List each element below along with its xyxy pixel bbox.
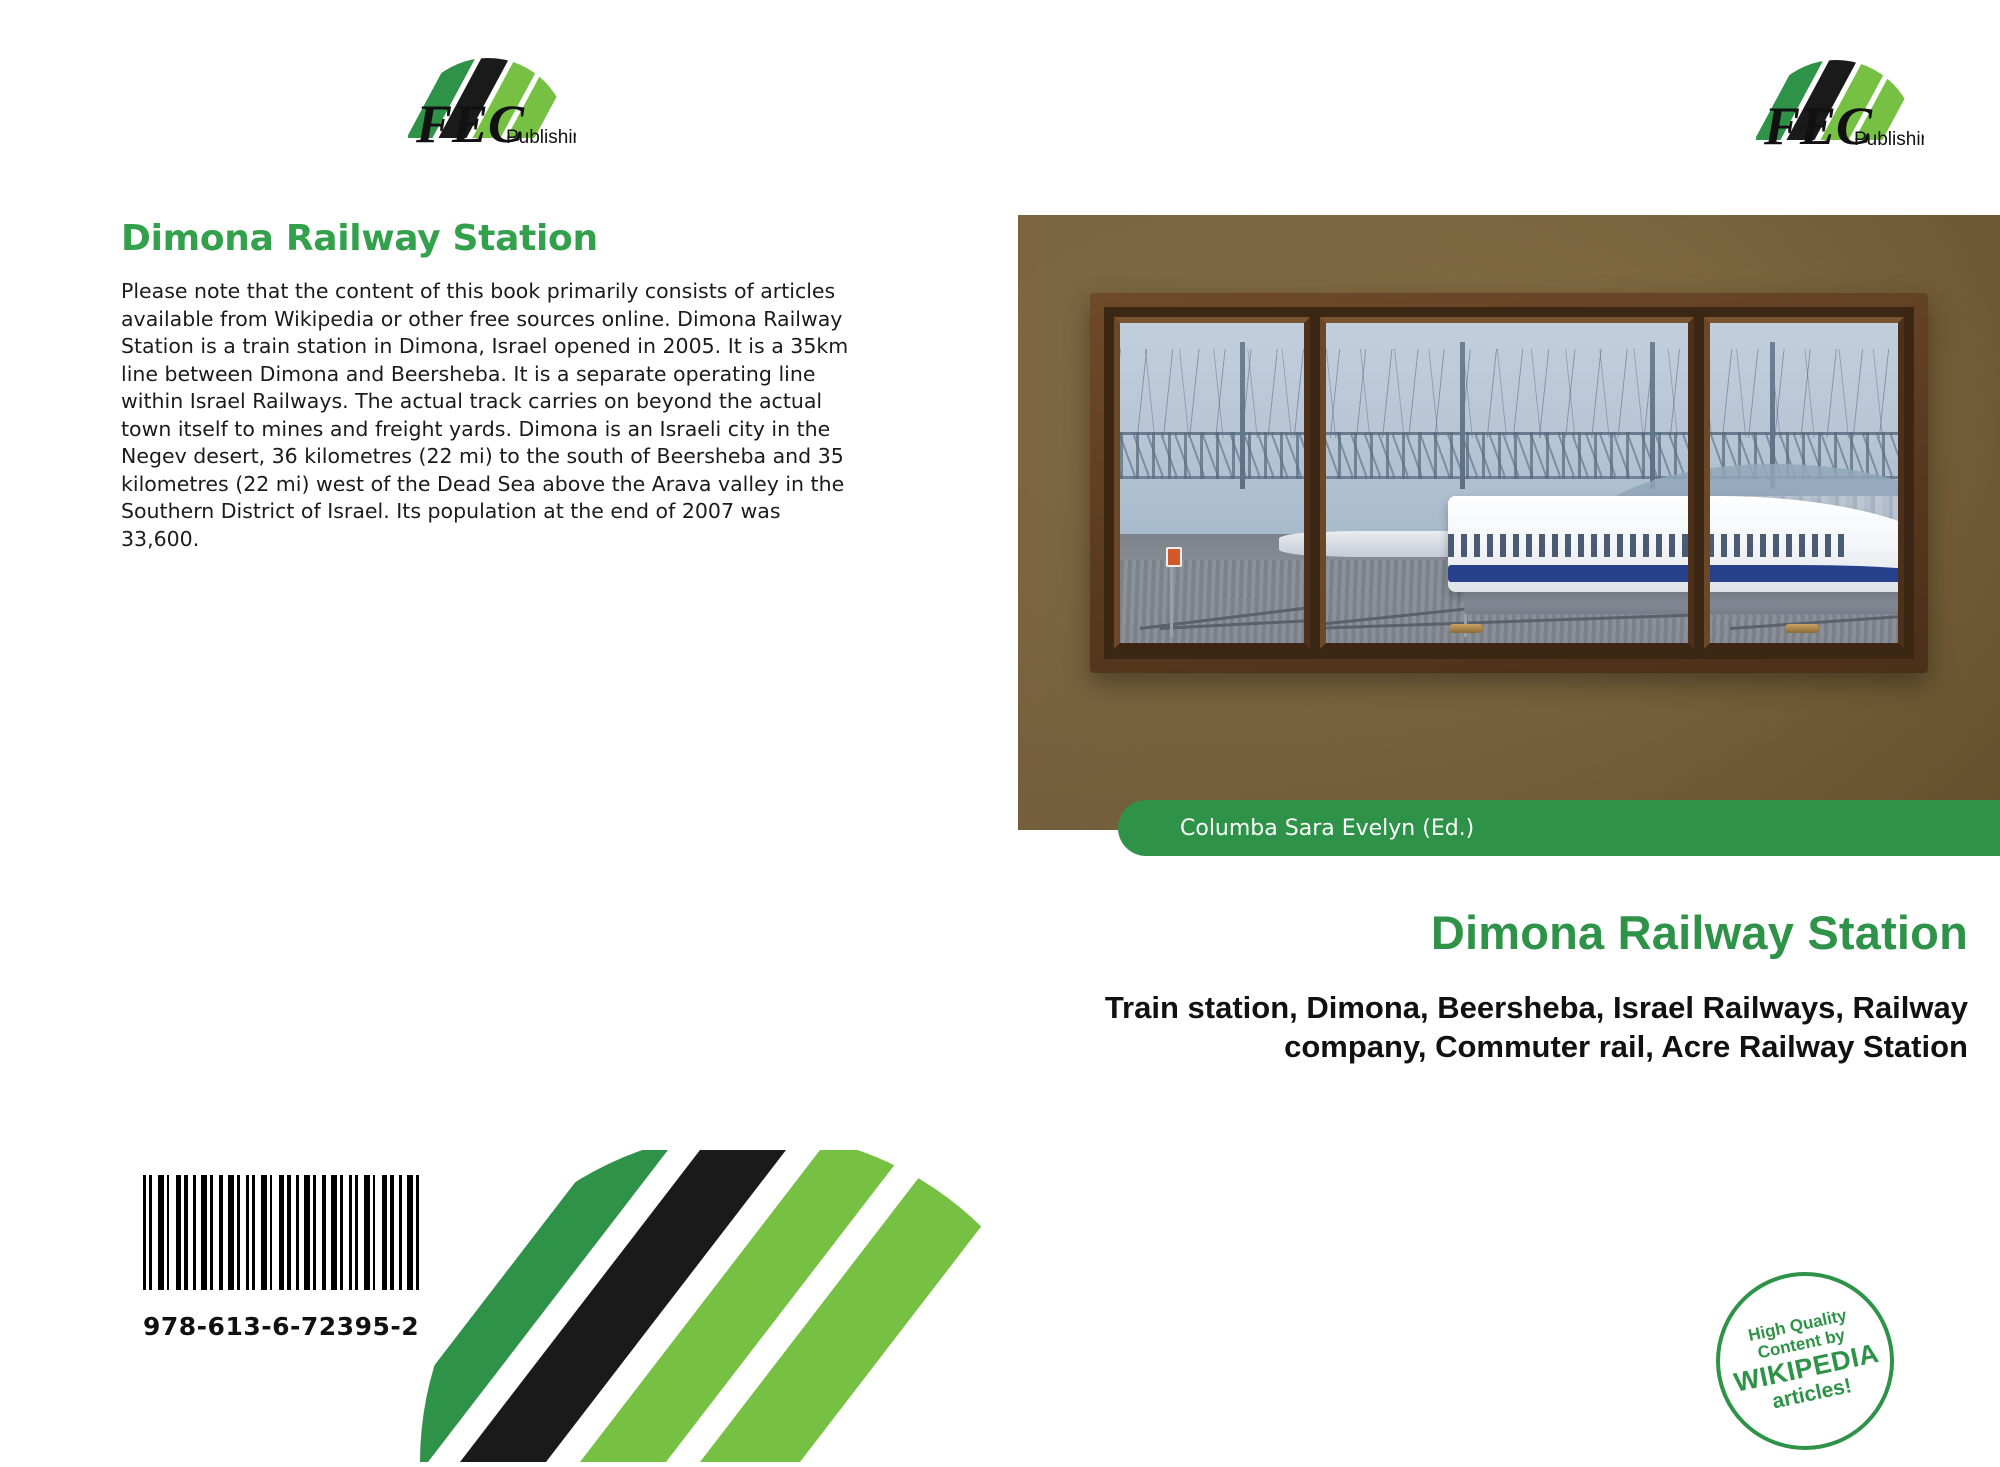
cover-photograph xyxy=(1018,215,2000,830)
railway-scene-center xyxy=(1320,323,1694,643)
barcode-image xyxy=(143,1175,423,1290)
railway-scene-right xyxy=(1704,323,1904,643)
author-name: Columba Sara Evelyn (Ed.) xyxy=(1180,816,1474,841)
window-frame xyxy=(1090,293,1928,673)
wikipedia-quality-stamp: High Quality Content by WIKIPEDIA articl… xyxy=(1716,1272,1894,1450)
window-pane-right xyxy=(1704,317,1904,649)
author-bar: Columba Sara Evelyn (Ed.) xyxy=(1118,800,2000,856)
bottom-decorative-arc xyxy=(400,1150,1100,1462)
window-latch-right[interactable] xyxy=(1785,624,1819,633)
railway-scene-left xyxy=(1120,323,1310,643)
svg-text:Publishing: Publishing xyxy=(1854,129,1924,150)
logo-publishing-text: Publishing xyxy=(506,127,576,148)
window-latch-center[interactable] xyxy=(1449,624,1483,633)
window-pane-center xyxy=(1320,317,1694,649)
window-pane-left xyxy=(1114,317,1310,649)
back-cover-title: Dimona Railway Station xyxy=(121,218,598,259)
isbn-number: 978-613-6-72395-2 xyxy=(143,1312,423,1341)
publisher-logo-back: FEC Publishing xyxy=(400,42,576,150)
publisher-logo-front: FEC Publishing xyxy=(1748,44,1924,152)
back-cover-blurb: Please note that the content of this boo… xyxy=(121,278,863,553)
barcode-block: 978-613-6-72395-2 xyxy=(143,1175,423,1341)
front-cover-title: Dimona Railway Station xyxy=(668,905,1968,960)
window-sashes xyxy=(1104,307,1914,659)
front-cover-subtitle: Train station, Dimona, Beersheba, Israel… xyxy=(968,988,1968,1066)
